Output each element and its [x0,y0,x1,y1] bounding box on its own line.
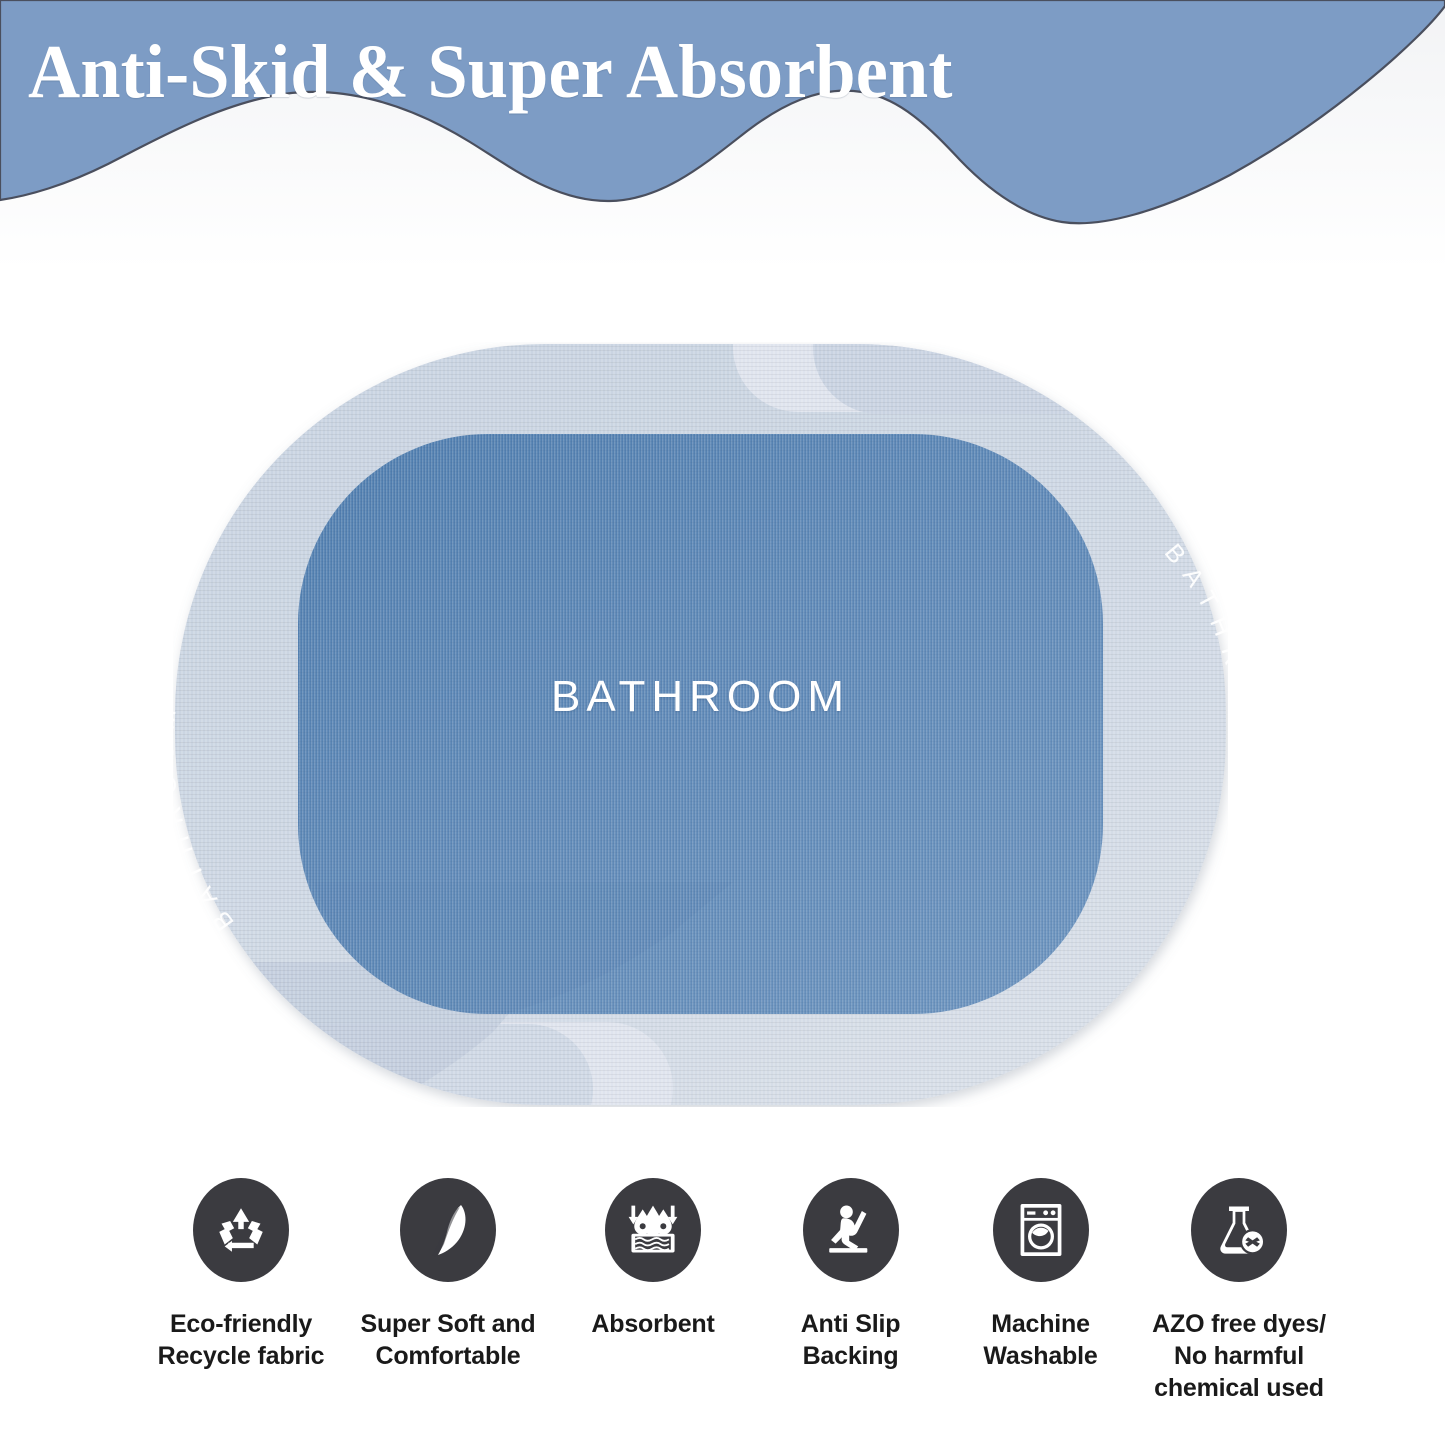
feature-badge [1191,1178,1287,1282]
feature-badge [605,1178,701,1282]
water-absorb-icon [623,1200,683,1260]
bath-mat-product: BATHROOM BATHROOM BATHROOM [173,342,1228,1107]
bath-mat-graphic: BATHROOM BATHROOM [173,342,1228,1107]
recycle-icon [212,1201,270,1259]
feature-icons-row: Eco-friendly Recycle fabric Super Soft a… [110,1178,1350,1433]
feature-badge [993,1178,1089,1282]
feature-badge [193,1178,289,1282]
feature-item-absorbent: Absorbent [558,1178,748,1340]
feature-label: Anti Slip Backing [758,1308,943,1372]
no-chemical-flask-icon [1210,1201,1268,1259]
feature-label: Machine Washable [948,1308,1133,1372]
feature-badge [803,1178,899,1282]
feature-item-anti-slip: Anti Slip Backing [758,1178,943,1372]
slip-person-icon [822,1200,880,1260]
feature-label: Eco-friendly Recycle fabric [146,1308,336,1372]
feature-label: AZO free dyes/ No harmful chemical used [1128,1308,1350,1404]
feature-item-azo-free: AZO free dyes/ No harmful chemical used [1128,1178,1350,1404]
feature-item-machine-washable: Machine Washable [948,1178,1133,1372]
feature-item-super-soft: Super Soft and Comfortable [343,1178,553,1372]
feature-label: Super Soft and Comfortable [343,1308,553,1372]
product-image-canvas: Anti-Skid & Super Absorbent [0,0,1445,1445]
banner-title: Anti-Skid & Super Absorbent [28,26,1130,118]
feature-badge [400,1178,496,1282]
header-banner: Anti-Skid & Super Absorbent [0,0,1445,270]
feature-label: Absorbent [558,1308,748,1340]
washing-machine-icon [1015,1201,1067,1259]
feature-item-eco-friendly: Eco-friendly Recycle fabric [146,1178,336,1372]
feather-icon [420,1200,476,1260]
